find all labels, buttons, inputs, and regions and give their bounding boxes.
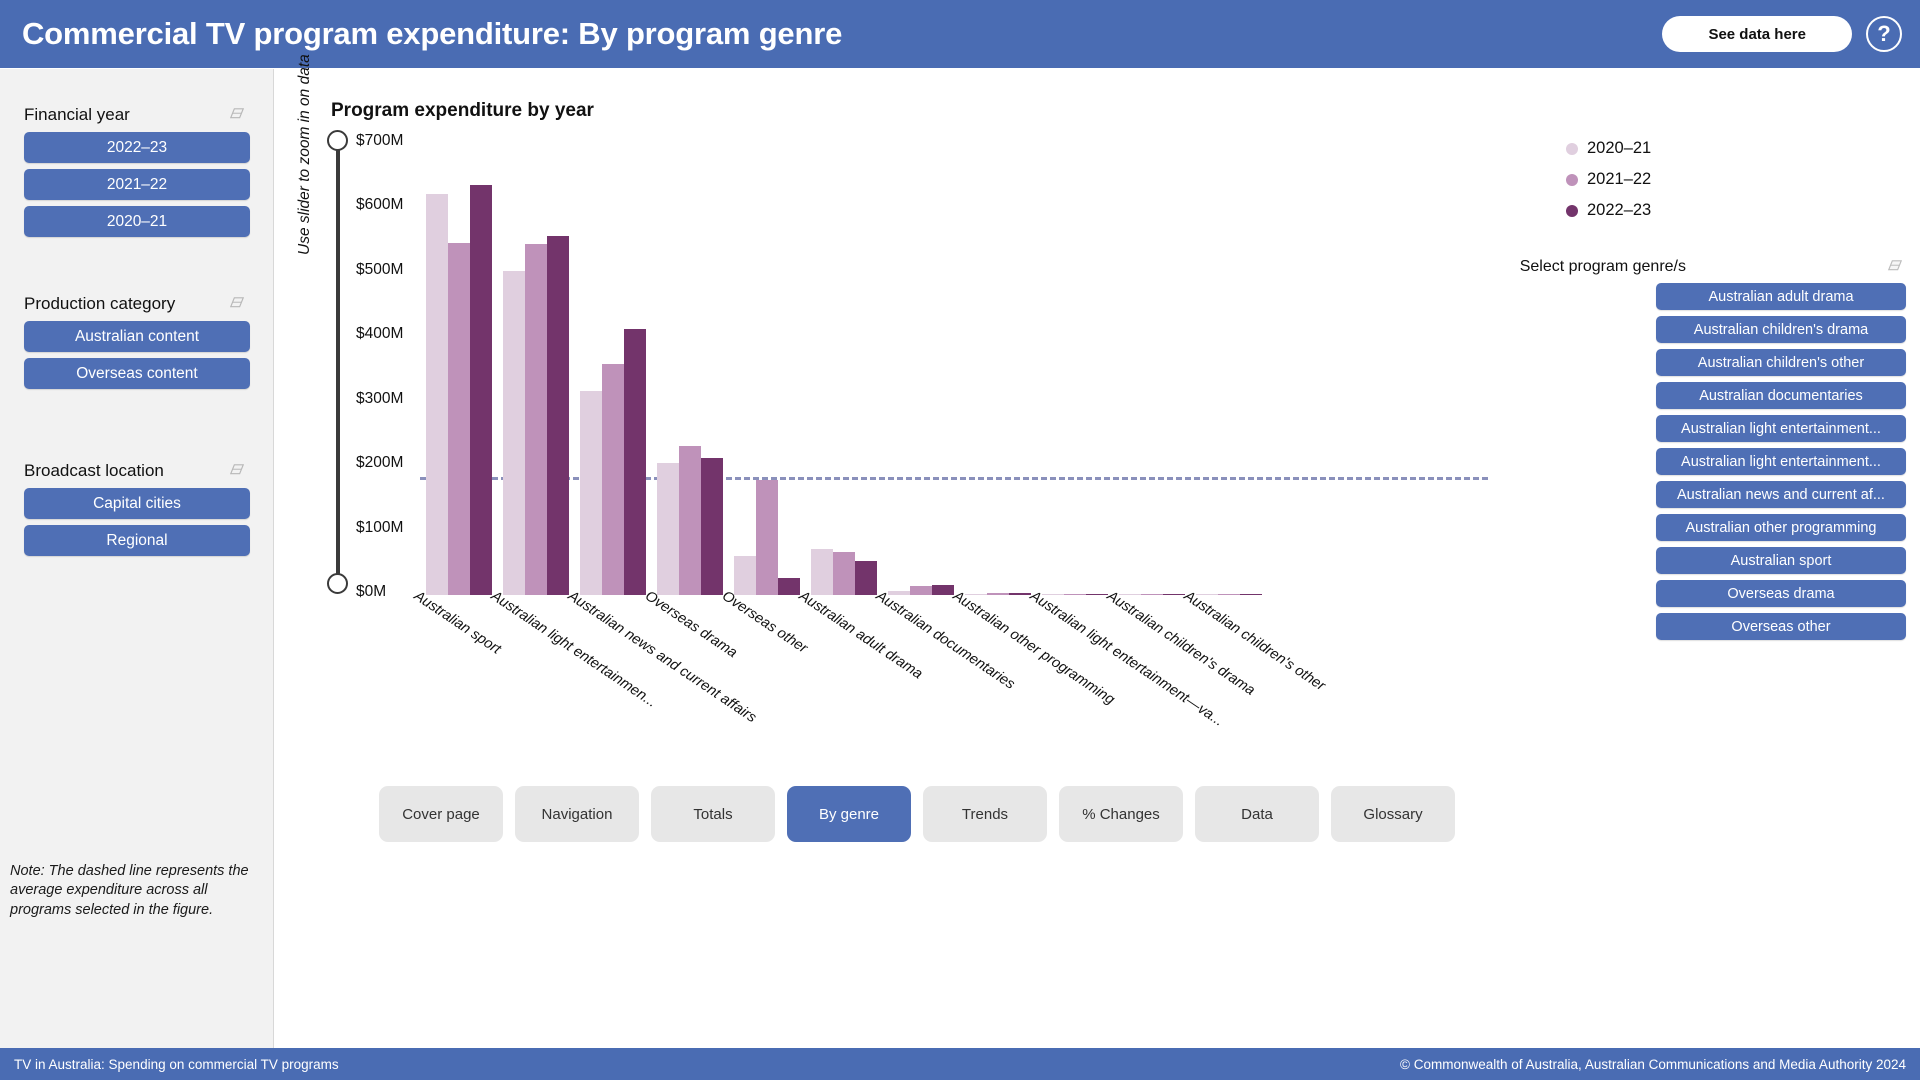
help-icon[interactable]: ? (1866, 16, 1902, 52)
tab-by-genre[interactable]: By genre (787, 786, 911, 842)
footer-right-text: © Commonwealth of Australia, Australian … (1400, 1057, 1906, 1072)
x-axis-label: Australian adult drama (796, 588, 925, 682)
y-axis-tick: $600M (356, 196, 416, 214)
tab-navigation[interactable]: Navigation (515, 786, 639, 842)
y-axis-tick: $400M (356, 325, 416, 343)
genre-option-2-australian-children-s-other[interactable]: Australian children's other (1656, 349, 1906, 376)
legend-item-2020-21[interactable]: 2020–21 (1566, 133, 1651, 164)
bar[interactable] (525, 244, 547, 595)
filter-header: Financial year (0, 105, 274, 125)
bar-group-australian-news-and-current-affairs (580, 133, 646, 595)
genre-option-5-australian-light-entertainment[interactable]: Australian light entertainment... (1656, 448, 1906, 475)
bar-group-overseas-drama (657, 133, 723, 595)
bar[interactable] (756, 480, 778, 595)
bar-group-australian-documentaries (888, 133, 954, 595)
filters-sidebar: Financial year2022–232021–222020–21Produ… (0, 69, 274, 1049)
filter-option-australian-content[interactable]: Australian content (24, 321, 250, 352)
app-footer: TV in Australia: Spending on commercial … (0, 1048, 1920, 1080)
legend-label: 2020–21 (1587, 139, 1651, 158)
genre-selector-label: Select program genre/s (1520, 258, 1686, 276)
header-actions: See data here ? (1662, 0, 1902, 68)
page-title: Commercial TV program expenditure: By pr… (22, 16, 842, 52)
filter-group-broadcast-location: Broadcast locationCapital citiesRegional (0, 461, 274, 562)
bar[interactable] (624, 329, 646, 595)
x-axis-label: Australian children's drama (1104, 588, 1258, 699)
y-axis-tick: $500M (356, 261, 416, 279)
tab-trends[interactable]: Trends (923, 786, 1047, 842)
genre-option-0-australian-adult-drama[interactable]: Australian adult drama (1656, 283, 1906, 310)
filter-option-capital-cities[interactable]: Capital cities (24, 488, 250, 519)
tab-totals[interactable]: Totals (651, 786, 775, 842)
y-axis-tick: $700M (356, 132, 416, 150)
genre-option-9-overseas-drama[interactable]: Overseas drama (1656, 580, 1906, 607)
genre-option-10-overseas-other[interactable]: Overseas other (1656, 613, 1906, 640)
tab-changes[interactable]: % Changes (1059, 786, 1183, 842)
bar[interactable] (580, 391, 602, 595)
bar-group-australian-adult-drama (811, 133, 877, 595)
x-axis-labels: Australian sportAustralian light enterta… (420, 588, 1320, 768)
legend-item-2021-22[interactable]: 2021–22 (1566, 164, 1651, 195)
filter-option-2021-22[interactable]: 2021–22 (24, 169, 250, 200)
bar-group-overseas-other (734, 133, 800, 595)
slider-handle-bottom[interactable] (327, 573, 348, 594)
bar[interactable] (602, 364, 624, 595)
genre-selector-panel: Select program genre/s Australian adult … (1296, 258, 1916, 646)
y-axis-tick: $300M (356, 390, 416, 408)
genre-option-8-australian-sport[interactable]: Australian sport (1656, 547, 1906, 574)
filter-group-financial-year: Financial year2022–232021–222020–21 (0, 105, 274, 243)
eraser-icon[interactable] (228, 107, 246, 123)
filter-header: Broadcast location (0, 461, 274, 481)
filter-header: Production category (0, 294, 274, 314)
legend-item-2022-23[interactable]: 2022–23 (1566, 195, 1651, 226)
y-axis-tick: $0M (356, 583, 416, 601)
legend-label: 2021–22 (1587, 170, 1651, 189)
genre-option-6-australian-news-and-current-af[interactable]: Australian news and current af... (1656, 481, 1906, 508)
filter-option-2020-21[interactable]: 2020–21 (24, 206, 250, 237)
page-tabs: Cover pageNavigationTotalsBy genreTrends… (379, 786, 1455, 842)
footer-left-text: TV in Australia: Spending on commercial … (14, 1057, 339, 1072)
bar[interactable] (679, 446, 701, 595)
filter-option-2022-23[interactable]: 2022–23 (24, 132, 250, 163)
legend-label: 2022–23 (1587, 201, 1651, 220)
eraser-icon[interactable] (228, 296, 246, 312)
tab-data[interactable]: Data (1195, 786, 1319, 842)
y-axis-tick: $200M (356, 454, 416, 472)
slider-track[interactable] (336, 141, 340, 583)
chart-title: Program expenditure by year (331, 100, 594, 122)
filter-label: Broadcast location (24, 461, 164, 481)
filter-group-production-category: Production categoryAustralian contentOve… (0, 294, 274, 395)
x-axis-label: Australian documentaries (873, 588, 1018, 693)
bar[interactable] (470, 185, 492, 595)
y-axis-tick: $100M (356, 519, 416, 537)
filter-label: Financial year (24, 105, 130, 125)
bar[interactable] (547, 236, 569, 595)
slider-handle-top[interactable] (327, 130, 348, 151)
dashboard-root: Commercial TV program expenditure: By pr… (0, 0, 1920, 1080)
genre-option-3-australian-documentaries[interactable]: Australian documentaries (1656, 382, 1906, 409)
bar-group-australian-sport (426, 133, 492, 595)
zoom-slider[interactable] (327, 130, 349, 594)
genre-selector-header: Select program genre/s (1296, 258, 1916, 276)
bar[interactable] (426, 194, 448, 595)
genre-option-4-australian-light-entertainment[interactable]: Australian light entertainment... (1656, 415, 1906, 442)
tab-glossary[interactable]: Glossary (1331, 786, 1455, 842)
tab-cover-page[interactable]: Cover page (379, 786, 503, 842)
bar[interactable] (657, 463, 679, 595)
legend-color-swatch (1566, 205, 1578, 217)
bar-group-australian-children-s-other (1196, 133, 1262, 595)
y-axis-label: Use slider to zoom in on data (296, 54, 314, 255)
bar[interactable] (448, 243, 470, 595)
app-header: Commercial TV program expenditure: By pr… (0, 0, 1920, 68)
eraser-icon[interactable] (1886, 259, 1904, 275)
bar-chart-plot: $0M$100M$200M$300M$400M$500M$600M$700M (356, 130, 1276, 595)
bars-area (420, 130, 1276, 595)
bar[interactable] (503, 271, 525, 595)
genre-option-1-australian-children-s-drama[interactable]: Australian children's drama (1656, 316, 1906, 343)
bar-group-australian-light-entertainment-va (1042, 133, 1108, 595)
chart-legend: 2020–212021–222022–23 (1566, 133, 1651, 226)
genre-option-7-australian-other-programming[interactable]: Australian other programming (1656, 514, 1906, 541)
chart-note: Note: The dashed line represents the ave… (10, 862, 266, 920)
genre-option-list: Australian adult dramaAustralian childre… (1296, 283, 1916, 640)
bar-group-australian-other-programming (965, 133, 1031, 595)
bar-group-australian-children-s-drama (1119, 133, 1185, 595)
filter-label: Production category (24, 294, 175, 314)
filter-option-regional[interactable]: Regional (24, 525, 250, 556)
filter-option-overseas-content[interactable]: Overseas content (24, 358, 250, 389)
see-data-here-button[interactable]: See data here (1662, 16, 1852, 52)
legend-color-swatch (1566, 143, 1578, 155)
eraser-icon[interactable] (228, 463, 246, 479)
legend-color-swatch (1566, 174, 1578, 186)
bar-group-australian-light-entertainmen (503, 133, 569, 595)
bar[interactable] (701, 458, 723, 595)
